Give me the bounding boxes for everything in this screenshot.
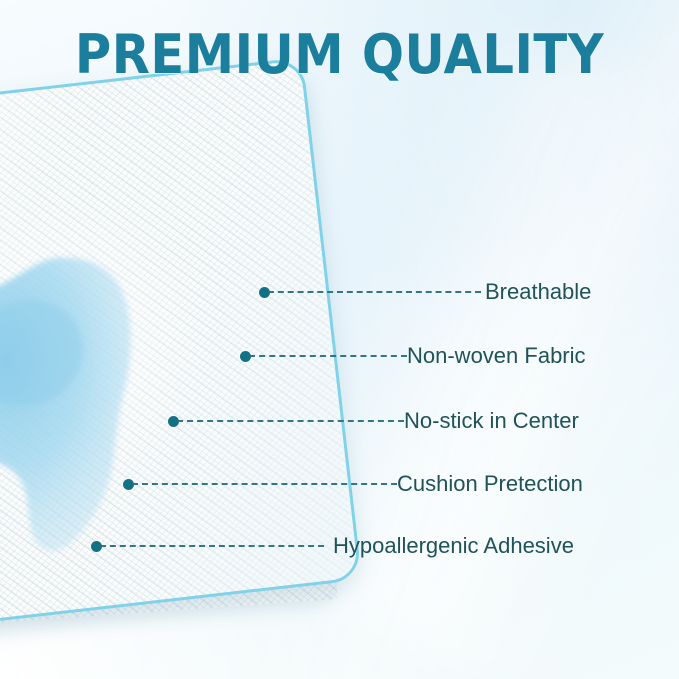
callout-label: Breathable [485, 279, 591, 305]
callout-label: Cushion Pretection [397, 471, 583, 497]
callout-label: Non-woven Fabric [407, 343, 586, 369]
page-title: PREMIUM QUALITY [0, 24, 679, 86]
callout-leader-line [177, 420, 404, 422]
callout-label: No-stick in Center [404, 408, 579, 434]
callout-leader-line [132, 483, 397, 485]
infographic-canvas: PREMIUM QUALITY BreathableNon-woven Fabr… [0, 0, 679, 679]
callout-label: Hypoallergenic Adhesive [333, 533, 574, 559]
bandage-main [0, 57, 362, 637]
bandage-sheen [0, 60, 359, 633]
callout-leader-line [100, 545, 324, 547]
callout-leader-line [268, 291, 481, 293]
callout-leader-line [249, 355, 407, 357]
